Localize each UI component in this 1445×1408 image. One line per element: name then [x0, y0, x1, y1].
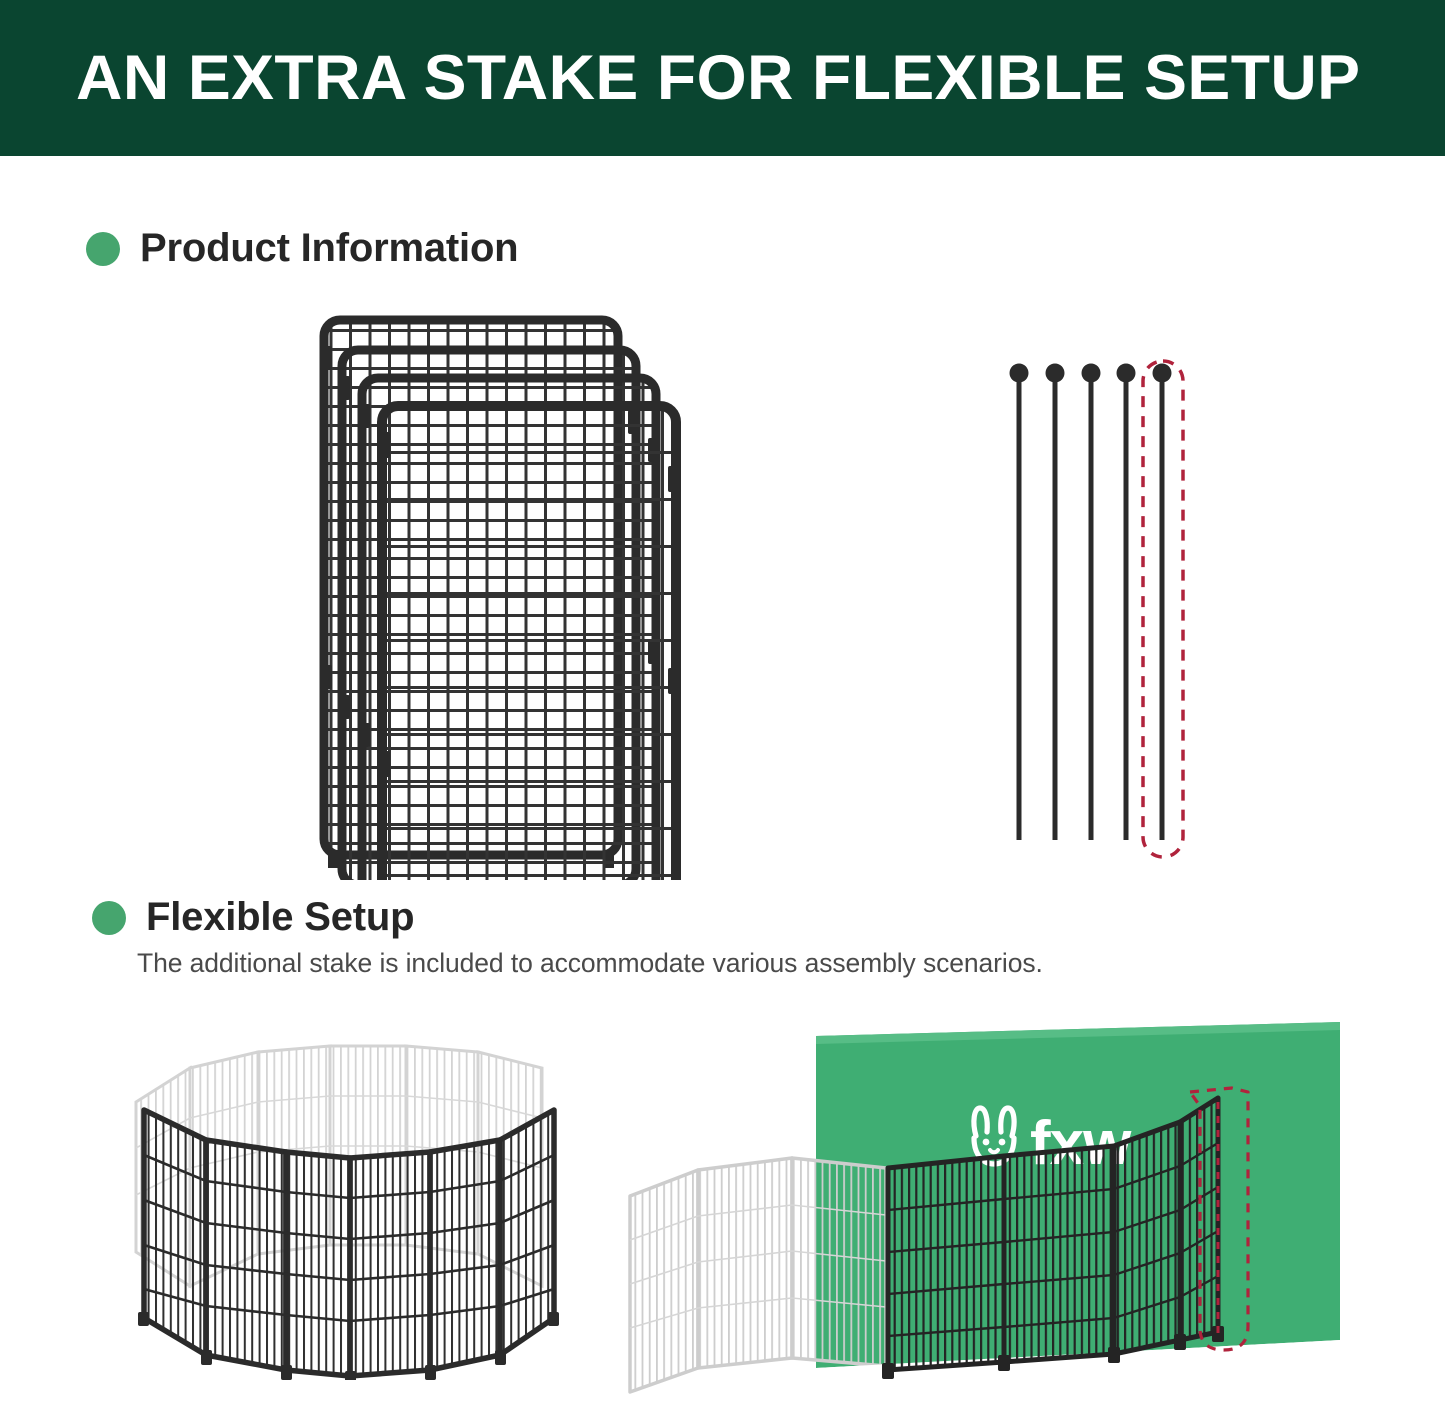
stake-3 — [1082, 364, 1101, 841]
fence-against-wall-illustration: fxw — [620, 1010, 1340, 1400]
fence-panel-4 — [377, 406, 681, 880]
section-title-text: Flexible Setup — [146, 895, 414, 940]
banner-title: AN EXTRA STAKE FOR FLEXIBLE SETUP — [76, 47, 1360, 110]
section-heading-flexible-setup: Flexible Setup — [92, 895, 414, 940]
bullet-icon — [86, 232, 120, 266]
ghost-fence-panels — [630, 1158, 886, 1392]
bullet-icon — [92, 901, 126, 935]
section-heading-product-information: Product Information — [86, 226, 518, 271]
stake-1 — [1010, 364, 1029, 841]
section-title-text: Product Information — [140, 226, 518, 271]
header-banner: AN EXTRA STAKE FOR FLEXIBLE SETUP — [0, 0, 1445, 156]
ground-stakes-illustration — [995, 358, 1200, 863]
stake-2 — [1046, 364, 1065, 841]
infographic-page: AN EXTRA STAKE FOR FLEXIBLE SETUP Produc… — [0, 0, 1445, 1408]
octagonal-playpen-illustration — [118, 1040, 578, 1380]
stake-5-highlighted — [1153, 364, 1172, 841]
stacked-fence-panels-illustration — [310, 310, 700, 880]
section-subtext: The additional stake is included to acco… — [137, 948, 1043, 979]
stake-4 — [1117, 364, 1136, 841]
